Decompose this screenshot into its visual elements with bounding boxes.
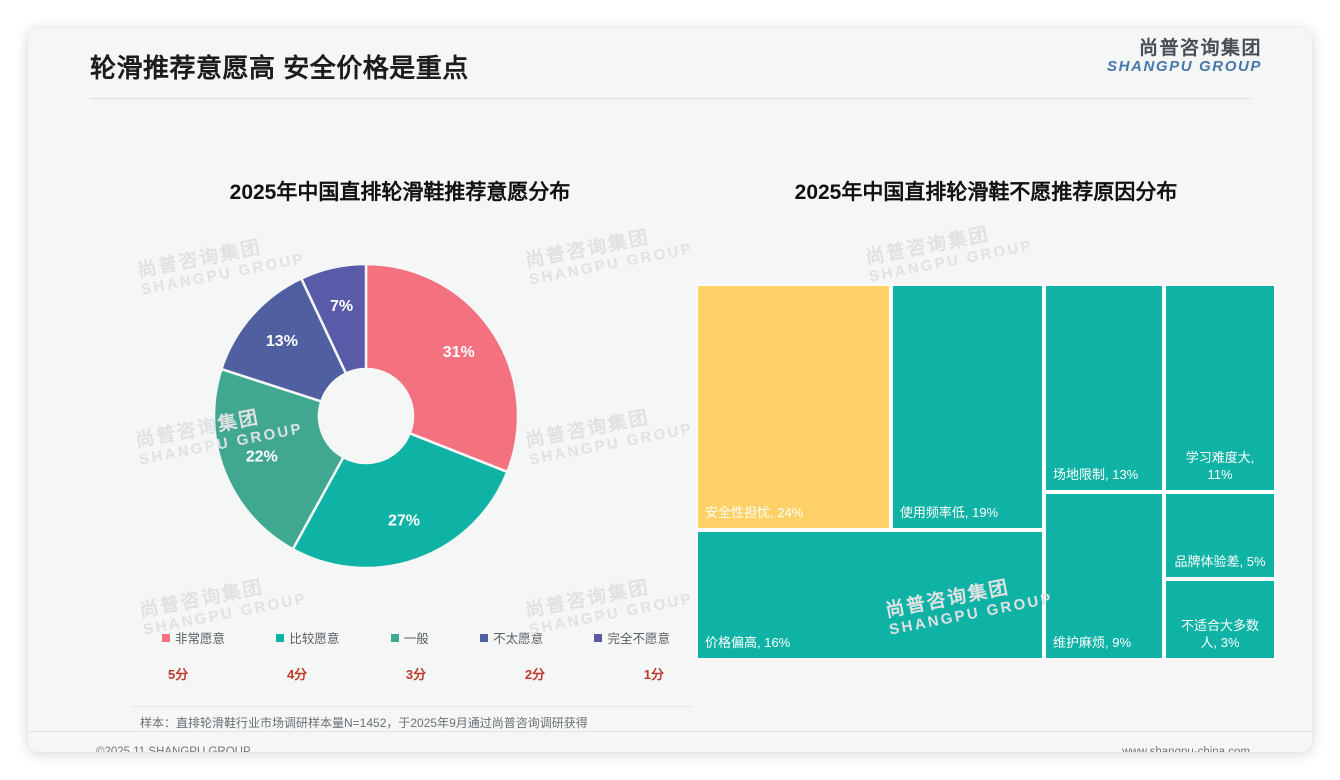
legend-item[interactable]: 一般 — [391, 628, 429, 647]
treemap-cell[interactable]: 安全性担忧, 24% — [696, 284, 891, 530]
slide-header: 轮滑推荐意愿高 安全价格是重点 尚普咨询集团 SHANGPU GROUP — [28, 28, 1312, 98]
legend-score-row: 5分4分3分2分1分 — [146, 664, 686, 683]
donut-slice-label: 7% — [330, 298, 353, 315]
legend-score-label: 5分 — [168, 664, 188, 683]
legend-label: 一般 — [404, 628, 429, 647]
legend-score-label: 3分 — [406, 664, 426, 683]
legend-color-swatch — [594, 634, 602, 642]
treemap-cell-label: 学习难度大, 11% — [1166, 449, 1274, 483]
donut-slice[interactable] — [366, 264, 518, 472]
copyright-text: ©2025.11 SHANGPU GROUP — [96, 746, 251, 752]
treemap-cell[interactable]: 不适合大多数人, 3% — [1164, 579, 1276, 660]
left-chart-title: 2025年中国直排轮滑鞋推荐意愿分布 — [100, 176, 700, 206]
legend-item[interactable]: 非常愿意 — [162, 628, 225, 647]
sample-footnote: 样本：直排轮滑鞋行业市场调研样本量N=1452，于2025年9月通过尚普咨询调研… — [140, 714, 588, 731]
header-divider — [90, 98, 1250, 99]
reasons-treemap-chart: 安全性担忧, 24%使用频率低, 19%价格偏高, 16%场地限制, 13%学习… — [696, 284, 1276, 660]
legend-items-row: 非常愿意比较愿意一般不太愿意完全不愿意 — [146, 628, 686, 647]
right-chart-title: 2025年中国直排轮滑鞋不愿推荐原因分布 — [696, 176, 1276, 206]
donut-slice-label: 31% — [443, 344, 475, 361]
left-chart-panel: 2025年中国直排轮滑鞋推荐意愿分布 — [100, 176, 700, 206]
legend-color-swatch — [162, 634, 170, 642]
website-link[interactable]: www.shangpu-china.com — [1122, 746, 1250, 752]
legend-item[interactable]: 完全不愿意 — [594, 628, 670, 647]
legend-item[interactable]: 比较愿意 — [276, 628, 339, 647]
legend-label: 完全不愿意 — [607, 628, 670, 647]
treemap-cell[interactable]: 使用频率低, 19% — [891, 284, 1044, 530]
watermark: 尚普咨询集团 SHANGPU GROUP — [524, 220, 695, 289]
treemap-cell[interactable]: 维护麻烦, 9% — [1044, 492, 1164, 660]
recommendation-donut-chart: 31%27%22%13%7% — [206, 256, 526, 576]
treemap-cell[interactable]: 场地限制, 13% — [1044, 284, 1164, 492]
watermark-line-1: 尚普咨询集团 — [524, 220, 692, 272]
slide-canvas: 轮滑推荐意愿高 安全价格是重点 尚普咨询集团 SHANGPU GROUP 尚普咨… — [28, 28, 1312, 752]
treemap-cell-label: 不适合大多数人, 3% — [1166, 617, 1274, 651]
legend-item[interactable]: 不太愿意 — [480, 628, 543, 647]
legend-color-swatch — [480, 634, 488, 642]
page-title: 轮滑推荐意愿高 安全价格是重点 — [90, 48, 469, 85]
legend-label: 比较愿意 — [289, 628, 339, 647]
donut-slice-label: 22% — [246, 448, 278, 465]
watermark-line-2: SHANGPU GROUP — [868, 238, 1035, 286]
watermark-line-1: 尚普咨询集团 — [524, 400, 692, 452]
treemap-cell[interactable]: 品牌体验差, 5% — [1164, 492, 1276, 579]
legend-label: 非常愿意 — [175, 628, 225, 647]
watermark: 尚普咨询集团 SHANGPU GROUP — [524, 400, 695, 469]
watermark: 尚普咨询集团 SHANGPU GROUP — [864, 217, 1035, 286]
brand-logo: 尚普咨询集团 SHANGPU GROUP — [1107, 39, 1262, 74]
treemap-cell-label: 使用频率低, 19% — [893, 504, 1042, 521]
legend-color-swatch — [276, 634, 284, 642]
legend-color-swatch — [391, 634, 399, 642]
donut-slice-label: 27% — [388, 513, 420, 530]
treemap-cell-label: 品牌体验差, 5% — [1166, 553, 1274, 570]
watermark-line-1: 尚普咨询集团 — [864, 217, 1032, 269]
treemap-cell-label: 价格偏高, 16% — [698, 634, 1042, 651]
watermark-line-1: 尚普咨询集团 — [524, 570, 692, 622]
treemap-cell[interactable]: 价格偏高, 16% — [696, 530, 1044, 660]
watermark-line-1: 尚普咨询集团 — [138, 570, 306, 622]
logo-chinese-text: 尚普咨询集团 — [1107, 39, 1262, 59]
legend-score-label: 2分 — [525, 664, 545, 683]
treemap-cell-label: 维护麻烦, 9% — [1046, 634, 1162, 651]
donut-slice-label: 13% — [266, 333, 298, 350]
logo-english-text: SHANGPU GROUP — [1107, 59, 1262, 75]
legend-label: 不太愿意 — [493, 628, 543, 647]
watermark-line-2: SHANGPU GROUP — [528, 421, 695, 469]
donut-legend: 非常愿意比较愿意一般不太愿意完全不愿意 5分4分3分2分1分 — [146, 628, 686, 694]
treemap-cell[interactable]: 学习难度大, 11% — [1164, 284, 1276, 492]
treemap-cell-label: 场地限制, 13% — [1046, 466, 1162, 483]
right-chart-panel: 2025年中国直排轮滑鞋不愿推荐原因分布 — [696, 176, 1276, 206]
legend-score-label: 1分 — [644, 664, 664, 683]
footnote-divider — [132, 706, 692, 707]
donut-svg: 31%27%22%13%7% — [206, 256, 526, 576]
slide-footer: ©2025.11 SHANGPU GROUP www.shangpu-china… — [28, 732, 1312, 752]
legend-score-label: 4分 — [287, 664, 307, 683]
treemap-cell-label: 安全性担忧, 24% — [698, 504, 889, 521]
watermark-line-2: SHANGPU GROUP — [528, 241, 695, 289]
